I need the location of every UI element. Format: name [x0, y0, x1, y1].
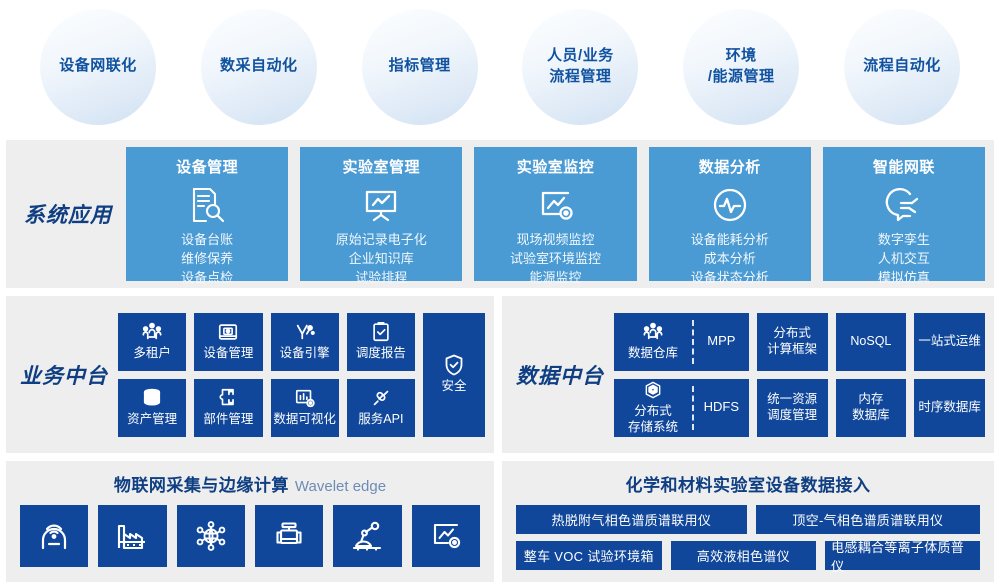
capability-ellipse[interactable]: 流程自动化 — [844, 9, 960, 125]
data-platform-row-label: 数据中台 — [506, 360, 614, 390]
tile-label: 设备管理 — [203, 346, 253, 362]
app-card-title: 数据分析 — [699, 156, 761, 177]
business-platform-grid: 多租户 设备管理 — [118, 313, 415, 437]
tile-distributed-storage-hdfs[interactable]: 分布式 存储系统 HDFS — [614, 379, 749, 437]
capability-ellipse[interactable]: 指标管理 — [362, 9, 478, 125]
capability-ellipse[interactable]: 环境 /能源管理 — [683, 9, 799, 125]
tile-device-management[interactable]: 设备管理 — [194, 313, 262, 371]
capability-label: 环境 /能源管理 — [702, 46, 781, 87]
tile-unified-resource-scheduling[interactable]: 统一资源 调度管理 — [757, 379, 828, 437]
iot-tile-network-globe[interactable] — [177, 505, 245, 567]
lab-chip-row-1: 热脱附气相色谱质谱联用仪 顶空-气相色谱质谱联用仪 — [516, 505, 980, 534]
iot-tile-monitoring-chart[interactable] — [412, 505, 480, 567]
tile-nosql[interactable]: NoSQL — [836, 313, 907, 371]
architecture-diagram: 设备网联化 数采自动化 指标管理 人员/业务 流程管理 环境 /能源管理 流程自… — [0, 0, 1000, 588]
distributed-storage-icon — [643, 379, 663, 401]
tile-mpp[interactable]: MPP — [694, 313, 749, 371]
tile-label: 调度报告 — [356, 346, 406, 362]
iot-tile-valve-sensor[interactable] — [255, 505, 323, 567]
tile-hdfs[interactable]: HDFS — [694, 379, 749, 437]
capability-label: 指标管理 — [383, 56, 457, 76]
document-search-icon — [187, 185, 227, 225]
device-box-icon — [217, 321, 239, 343]
tile-label: 一站式运维 — [918, 334, 981, 350]
tile-one-stop-ops[interactable]: 一站式运维 — [914, 313, 985, 371]
puzzle-icon — [217, 387, 239, 409]
tile-asset-management[interactable]: 资产管理 — [118, 379, 186, 437]
tile-device-engine[interactable]: 设备引擎 — [271, 313, 339, 371]
app-card-lines: 原始记录电子化 企业知识库 试验排程 — [336, 231, 427, 288]
lab-chip[interactable]: 电感耦合等离子体质普仪 — [825, 541, 980, 570]
iot-panel-title: 物联网采集与边缘计算Wavelet edge — [6, 461, 494, 496]
lab-chip[interactable]: 高效液相色谱仪 — [671, 541, 817, 570]
tile-label: 分布式 计算框架 — [767, 326, 817, 357]
wifi-gateway-icon — [37, 519, 71, 553]
monitoring-chart-icon — [429, 519, 463, 553]
app-card-lab-monitoring[interactable]: 实验室监控 现场视频监控 试验室环境监控 能源监控 — [474, 147, 636, 281]
data-warehouse-icon — [642, 321, 664, 343]
lab-chip[interactable]: 热脱附气相色谱质谱联用仪 — [516, 505, 747, 534]
capability-label: 数采自动化 — [214, 56, 304, 76]
business-platform-tiles: 多租户 设备管理 — [118, 313, 494, 437]
tile-label: NoSQL — [850, 334, 891, 350]
tile-data-visualization[interactable]: 数据可视化 — [271, 379, 339, 437]
tile-multi-tenant[interactable]: 多租户 — [118, 313, 186, 371]
lab-chip[interactable]: 顶空-气相色谱质谱联用仪 — [756, 505, 980, 534]
data-visual-icon — [294, 387, 316, 409]
top-capability-row: 设备网联化 数采自动化 指标管理 人员/业务 流程管理 环境 /能源管理 流程自… — [0, 0, 1000, 133]
data-platform-row-1: 数据仓库 MPP 分布式 计算框架 NoSQL 一站式运维 — [614, 313, 985, 371]
pulse-circle-icon — [710, 185, 750, 225]
system-application-cards: 设备管理 设备台账 维修保养 设备点检 实验室管理 — [122, 147, 994, 281]
database-asset-icon — [141, 387, 163, 409]
lab-chip-row-2: 整车 VOC 试验环境箱 高效液相色谱仪 电感耦合等离子体质普仪 — [516, 541, 980, 570]
tile-service-api[interactable]: 服务API — [347, 379, 415, 437]
tile-component-management[interactable]: 部件管理 — [194, 379, 262, 437]
tile-in-memory-database[interactable]: 内存 数据库 — [836, 379, 907, 437]
presentation-chart-icon — [361, 185, 401, 225]
tile-label: 数据可视化 — [273, 412, 336, 428]
iot-edge-panel: 物联网采集与边缘计算Wavelet edge — [6, 461, 494, 582]
tile-label: 安全 — [441, 379, 466, 395]
tile-label: 多租户 — [133, 346, 171, 362]
app-card-title: 实验室监控 — [517, 156, 595, 177]
business-platform-panel: 业务中台 多租户 — [6, 296, 494, 453]
data-platform-panel: 数据中台 — [502, 296, 994, 453]
tile-label: MPP — [707, 333, 735, 349]
tile-label: 部件管理 — [203, 412, 253, 428]
iot-icon-row — [6, 496, 494, 567]
network-globe-icon — [194, 519, 228, 553]
tile-label: 设备引擎 — [280, 346, 330, 362]
app-card-title: 设备管理 — [176, 156, 238, 177]
tile-label: 统一资源 调度管理 — [767, 392, 817, 423]
iot-title-text: 物联网采集与边缘计算 — [114, 476, 289, 495]
capability-label: 流程自动化 — [857, 56, 947, 76]
app-card-title: 智能网联 — [873, 156, 935, 177]
api-link-icon — [370, 387, 392, 409]
valve-sensor-icon — [272, 519, 306, 553]
tile-time-series-database[interactable]: 时序数据库 — [914, 379, 985, 437]
app-card-title: 实验室管理 — [343, 156, 421, 177]
lab-chip-rows: 热脱附气相色谱质谱联用仪 顶空-气相色谱质谱联用仪 整车 VOC 试验环境箱 高… — [502, 496, 994, 570]
app-card-lab-management[interactable]: 实验室管理 原始记录电子化 企业知识库 试验排程 — [300, 147, 462, 281]
multi-tenant-icon — [141, 321, 163, 343]
capability-ellipse[interactable]: 数采自动化 — [201, 9, 317, 125]
tile-data-warehouse[interactable]: 数据仓库 — [614, 313, 692, 371]
app-card-lines: 数字孪生 人机交互 模拟仿真 — [878, 231, 930, 288]
lab-equipment-panel: 化学和材料实验室设备数据接入 热脱附气相色谱质谱联用仪 顶空-气相色谱质谱联用仪… — [502, 461, 994, 582]
tile-distributed-storage[interactable]: 分布式 存储系统 — [614, 379, 692, 437]
engine-node-icon — [294, 321, 316, 343]
lab-chip[interactable]: 整车 VOC 试验环境箱 — [516, 541, 662, 570]
iot-subtitle-text: Wavelet edge — [295, 478, 386, 495]
business-platform-row-1: 多租户 设备管理 — [118, 313, 415, 371]
capability-ellipse[interactable]: 设备网联化 — [40, 9, 156, 125]
app-card-data-analysis[interactable]: 数据分析 设备能耗分析 成本分析 设备状态分析 — [649, 147, 811, 281]
app-card-device-management[interactable]: 设备管理 设备台账 维修保养 设备点检 — [126, 147, 288, 281]
tile-data-warehouse-mpp[interactable]: 数据仓库 MPP — [614, 313, 749, 371]
tile-label: 分布式 存储系统 — [628, 404, 678, 435]
tile-label: 时序数据库 — [918, 400, 981, 416]
capability-ellipse[interactable]: 人员/业务 流程管理 — [522, 9, 638, 125]
clipboard-check-icon — [370, 321, 392, 343]
capability-label: 设备网联化 — [53, 56, 143, 76]
iot-tile-robot-arm[interactable] — [333, 505, 401, 567]
data-platform-grid: 数据仓库 MPP 分布式 计算框架 NoSQL 一站式运维 — [614, 313, 985, 437]
business-platform-row-2: 资产管理 部件管理 — [118, 379, 415, 437]
tile-label: 数据仓库 — [628, 346, 678, 362]
tile-security[interactable]: 安全 — [423, 313, 485, 437]
tile-distributed-compute[interactable]: 分布式 计算框架 — [757, 313, 828, 371]
business-platform-row-label: 业务中台 — [10, 360, 118, 390]
data-platform-tiles: 数据仓库 MPP 分布式 计算框架 NoSQL 一站式运维 — [614, 313, 994, 437]
iot-tile-factory[interactable] — [98, 505, 166, 567]
app-card-lines: 现场视频监控 试验室环境监控 能源监控 — [510, 231, 601, 288]
monitor-chart-icon — [536, 185, 576, 225]
data-platform-row-2: 分布式 存储系统 HDFS 统一资源 调度管理 内存 数据库 时 — [614, 379, 985, 437]
tile-label: 服务API — [358, 412, 403, 428]
tile-label: 内存 数据库 — [852, 392, 890, 423]
tile-label: 资产管理 — [127, 412, 177, 428]
system-application-row-label: 系统应用 — [14, 199, 122, 229]
lab-panel-title: 化学和材料实验室设备数据接入 — [502, 461, 994, 496]
iot-tile-wifi-gateway[interactable] — [20, 505, 88, 567]
factory-icon — [115, 519, 149, 553]
app-card-lines: 设备能耗分析 成本分析 设备状态分析 — [691, 231, 769, 288]
shield-check-icon — [442, 354, 466, 376]
app-card-lines: 设备台账 维修保养 设备点检 — [181, 231, 233, 288]
tile-label: HDFS — [704, 399, 739, 415]
app-card-intelligent-network[interactable]: 智能网联 数字孪生 人机交互 模拟仿真 — [823, 147, 985, 281]
capability-label: 人员/业务 流程管理 — [541, 46, 620, 87]
robot-arm-icon — [350, 519, 384, 553]
tile-dispatch-report[interactable]: 调度报告 — [347, 313, 415, 371]
system-application-panel: 系统应用 设备管理 设备台账 维修保养 设备点检 实验室管理 — [6, 140, 994, 288]
ai-head-icon — [884, 185, 924, 225]
